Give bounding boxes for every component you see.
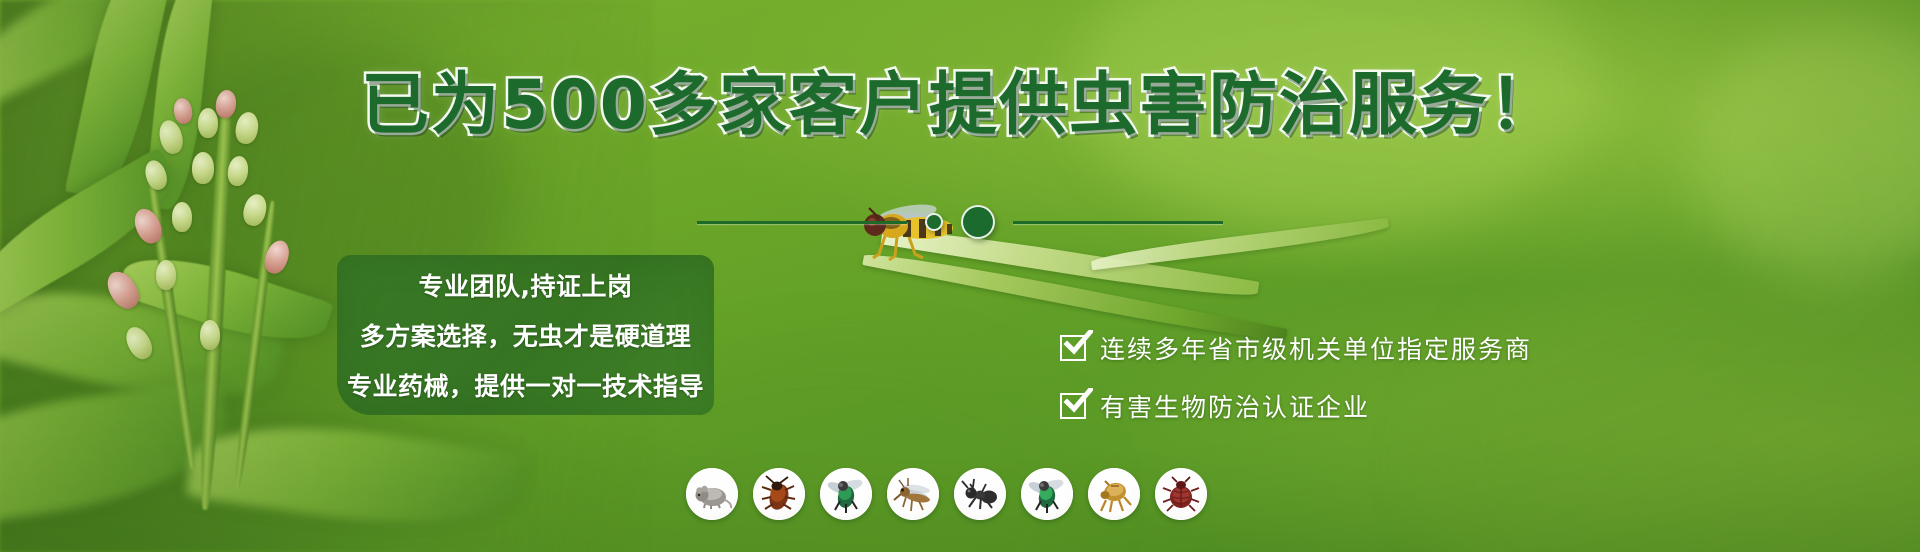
bedbug-icon — [1155, 468, 1207, 520]
credentials-list: 连续多年省市级机关单位指定服务商 有害生物防治认证企业 — [1060, 330, 1532, 424]
mosquito-icon — [887, 468, 939, 520]
checkbox-checked-icon — [1060, 393, 1086, 419]
selling-point-2: 多方案选择，无虫才是硬道理 — [360, 317, 692, 353]
decorative-divider — [0, 205, 1920, 239]
page-title: 已为500多家客户提供虫害防治服务！ — [0, 72, 1920, 140]
selling-point-1: 专业团队,持证上岗 — [419, 267, 633, 303]
headline-text: 已为500多家客户提供虫害防治服务！ — [361, 72, 1559, 140]
divider-line-right — [1013, 221, 1223, 224]
credential-text-2: 有害生物防治认证企业 — [1100, 388, 1370, 424]
blowfly-icon — [1021, 468, 1073, 520]
pest-icon-row — [686, 468, 1207, 520]
divider-dot-large — [961, 205, 995, 239]
credential-text-1: 连续多年省市级机关单位指定服务商 — [1100, 330, 1532, 366]
checkbox-checked-icon — [1060, 335, 1086, 361]
selling-points-panel: 专业团队,持证上岗 多方案选择，无虫才是硬道理 专业药械，提供一对一技术指导 — [337, 255, 714, 415]
list-item: 有害生物防治认证企业 — [1060, 388, 1532, 424]
selling-point-3: 专业药械，提供一对一技术指导 — [347, 367, 704, 403]
cockroach-icon — [753, 468, 805, 520]
flea-icon — [1088, 468, 1140, 520]
divider-dot-small — [925, 213, 943, 231]
promo-banner: 已为500多家客户提供虫害防治服务！ 专业团队,持证上岗 多方案选择，无虫才是硬… — [0, 0, 1920, 552]
rat-icon — [686, 468, 738, 520]
divider-line-left — [697, 221, 907, 224]
ant-icon — [954, 468, 1006, 520]
list-item: 连续多年省市级机关单位指定服务商 — [1060, 330, 1532, 366]
fly-icon — [820, 468, 872, 520]
